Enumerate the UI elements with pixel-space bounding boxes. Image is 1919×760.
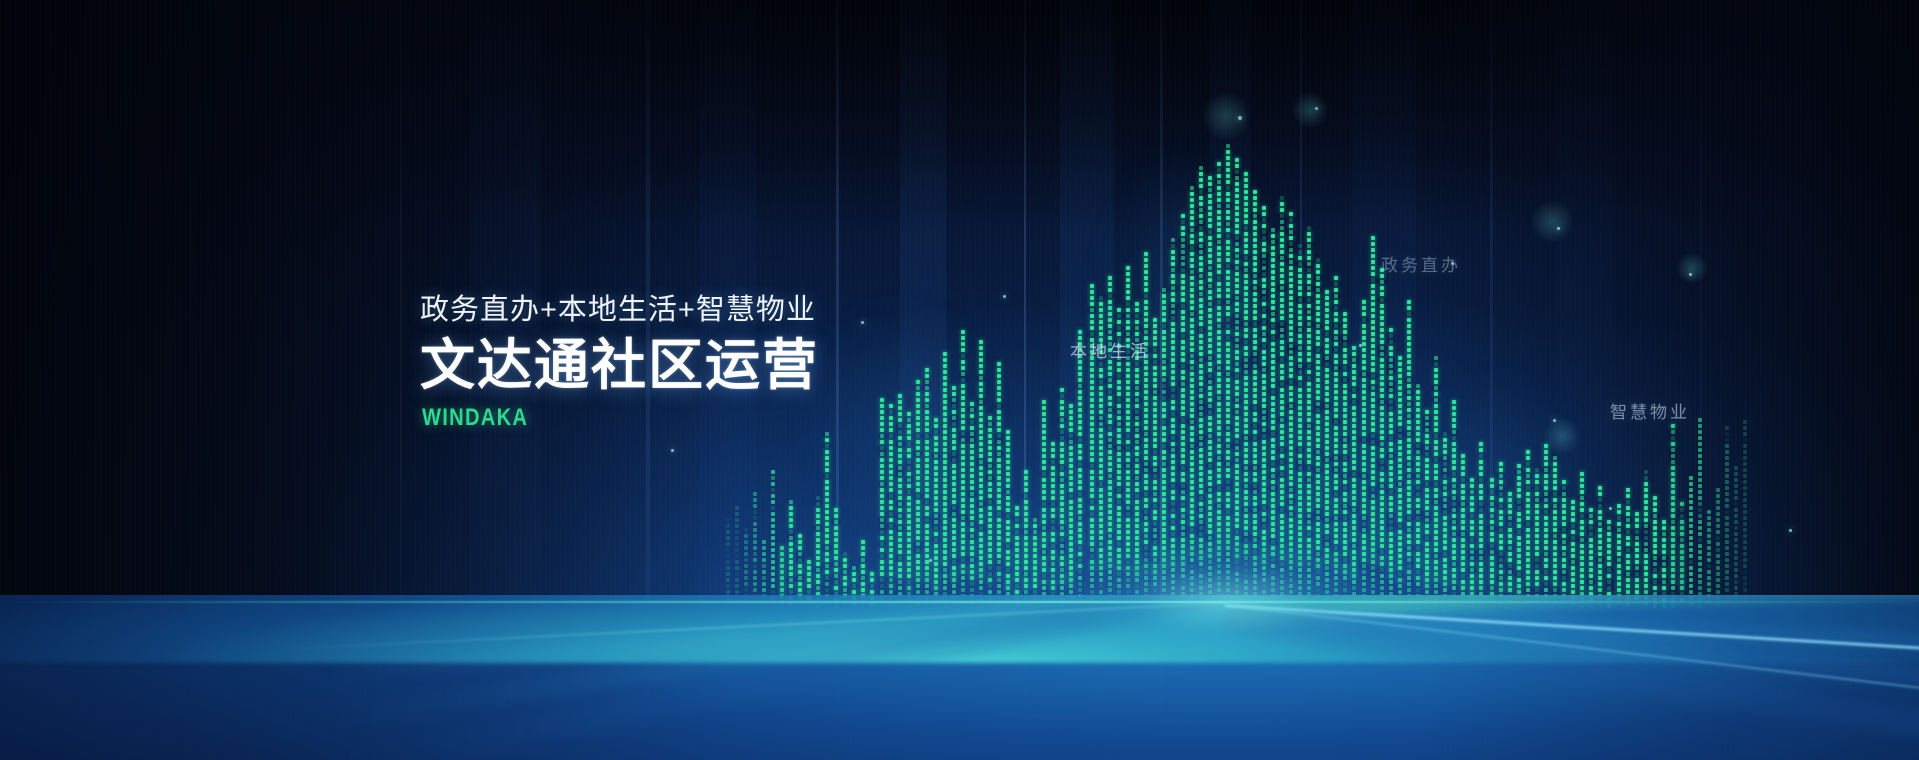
city-label: 政务直办 <box>1381 251 1461 276</box>
tower-column <box>907 412 912 610</box>
sparkle-dot <box>671 449 674 452</box>
tower-column <box>1470 478 1475 610</box>
tower-column <box>916 380 921 610</box>
sparkle-glow <box>1284 84 1336 136</box>
tower-column <box>1743 420 1748 610</box>
sparkle-glow <box>1192 82 1260 150</box>
tower-column <box>1571 500 1576 610</box>
tower-column <box>1499 462 1504 610</box>
tower-column <box>1434 356 1439 610</box>
tower-column <box>1544 444 1549 610</box>
sparkle-dot <box>1689 273 1692 276</box>
tower-column <box>1626 488 1631 610</box>
sparkle-dot <box>861 321 864 324</box>
sparkle-glow <box>1670 246 1714 290</box>
city-label: 本地生活 <box>1070 337 1150 362</box>
sparkle-dot <box>1315 107 1318 110</box>
city-label: 智慧物业 <box>1610 398 1690 423</box>
tower-column <box>753 492 758 610</box>
sparkle-dot <box>1609 507 1612 510</box>
tower-column <box>1006 430 1011 610</box>
perspective-ground <box>0 595 1919 760</box>
sparkle-dot <box>1557 227 1560 230</box>
banner-headline: 文达通社区运营 <box>420 334 819 398</box>
tower-column <box>789 500 794 610</box>
tower-column <box>1517 464 1522 610</box>
tower-column <box>1535 468 1540 610</box>
tower-column <box>952 386 957 610</box>
tower-column <box>943 352 948 610</box>
tower-column <box>997 362 1002 610</box>
sparkle-dot <box>929 559 932 562</box>
tower-column <box>1490 478 1495 610</box>
tower-column <box>1562 480 1567 610</box>
tower-column <box>1671 424 1676 610</box>
tower-column <box>1461 454 1466 610</box>
sparkle-glow <box>1536 410 1588 462</box>
tower-column <box>925 368 930 610</box>
tower-column <box>898 394 903 610</box>
tower-column <box>988 416 993 610</box>
tower-column <box>1725 426 1730 610</box>
tower-column <box>771 470 776 610</box>
tower-column <box>1698 418 1703 610</box>
tower-column <box>979 340 984 610</box>
tower-column <box>1508 492 1513 610</box>
tower-column <box>1689 476 1694 610</box>
tower-column <box>1443 432 1448 610</box>
sparkle-dot <box>1789 529 1792 532</box>
tower-column <box>825 432 830 610</box>
vanishing-point-glow <box>1015 526 1435 676</box>
tower-column <box>1644 470 1649 610</box>
sparkle-dot <box>1359 344 1362 347</box>
horizon-line <box>0 601 1919 603</box>
tower-column <box>961 330 966 610</box>
tower-column <box>934 418 939 610</box>
banner-subtitle: 政务直办+本地生活+智慧物业 <box>420 292 819 328</box>
tower-column <box>1452 400 1457 610</box>
hero-banner: 本地生活政务直办智慧物业 政务直办+本地生活+智慧物业 文达通社区运营 WIND… <box>0 0 1919 760</box>
tower-column <box>1680 502 1685 610</box>
tower-column <box>1553 456 1558 610</box>
headline-block: 政务直办+本地生活+智慧物业 文达通社区运营 WINDAKA <box>420 292 819 430</box>
sparkle-glow <box>1522 192 1582 252</box>
sparkle-dot <box>1238 116 1242 120</box>
tower-column <box>1580 472 1585 610</box>
tower-column <box>1598 486 1603 610</box>
tower-column <box>889 404 894 610</box>
tower-column <box>1479 442 1484 610</box>
tower-column <box>1734 466 1739 610</box>
tower-column <box>1526 450 1531 610</box>
tower-column <box>970 402 975 610</box>
tower-column <box>816 496 821 610</box>
sparkle-dot <box>1553 419 1556 422</box>
tower-column <box>880 398 885 610</box>
sparkle-dot <box>1003 295 1006 298</box>
tower-column <box>1716 488 1721 610</box>
tower-column <box>1653 496 1658 610</box>
brand-wordmark: WINDAKA <box>422 406 755 430</box>
